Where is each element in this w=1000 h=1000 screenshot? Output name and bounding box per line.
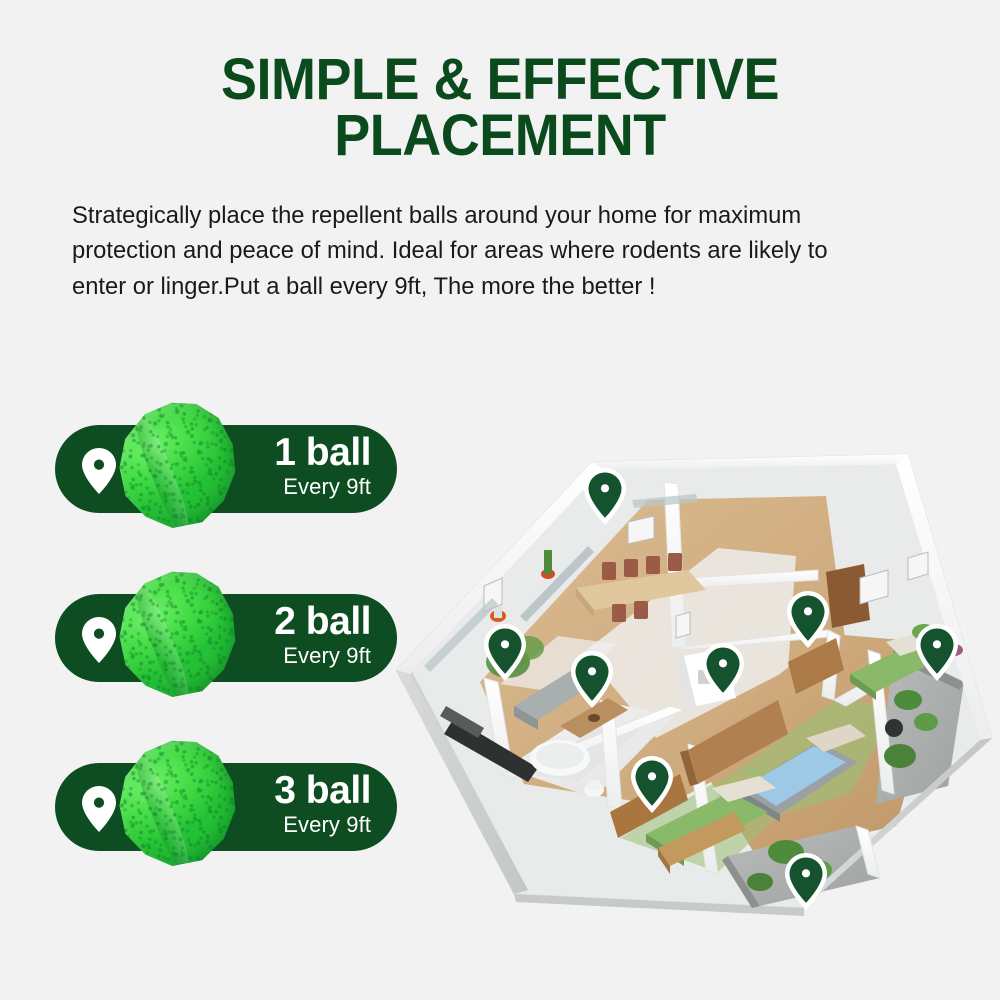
badge-title: 2 ball [274, 602, 371, 643]
floorplan-illustration [388, 438, 1000, 938]
badge-subtitle: Every 9ft [274, 813, 371, 837]
infographic-page: SIMPLE & EFFECTIVE PLACEMENT Strategical… [0, 0, 1000, 1000]
badge-title: 1 ball [274, 433, 371, 474]
badge-text: 1 ball Every 9ft [274, 433, 371, 499]
pin-dining-area[interactable] [578, 466, 632, 528]
pin-living-room[interactable] [478, 622, 532, 684]
badge-subtitle: Every 9ft [274, 644, 371, 668]
repellent-ball-image [88, 549, 267, 728]
badge-list: 1 ball Every 9ft 2 ball Every 9ft [0, 0, 420, 1000]
pin-bathroom[interactable] [565, 649, 619, 711]
list-item[interactable]: 3 ball Every 9ft [55, 763, 397, 851]
pin-bedroom-top[interactable] [781, 589, 835, 651]
pin-bedroom-lower[interactable] [625, 754, 679, 816]
badge-title: 3 ball [274, 771, 371, 812]
badge-subtitle: Every 9ft [274, 475, 371, 499]
pin-terrace-right[interactable] [910, 622, 964, 684]
badge-text: 3 ball Every 9ft [274, 771, 371, 837]
list-item[interactable]: 2 ball Every 9ft [55, 594, 397, 682]
badge-text: 2 ball Every 9ft [274, 602, 371, 668]
list-item[interactable]: 1 ball Every 9ft [55, 425, 397, 513]
repellent-ball-image [88, 718, 267, 897]
repellent-ball-image [88, 380, 267, 559]
pin-hallway[interactable] [696, 641, 750, 703]
pin-terrace-bottom[interactable] [779, 851, 833, 913]
